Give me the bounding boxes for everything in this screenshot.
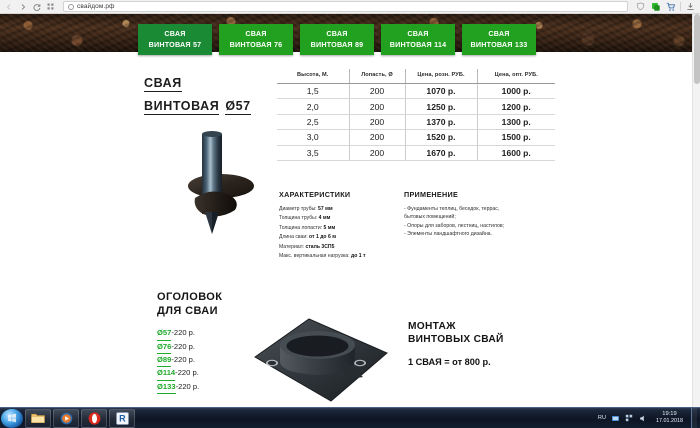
product-title: СВАЯ ВИНТОВАЯ Ø57	[144, 74, 274, 120]
cell-wholesale: 1200 р.	[477, 99, 555, 114]
nav-item-svaya-76[interactable]: СВАЯ ВИНТОВАЯ 76	[219, 24, 293, 55]
installation-block: МОНТАЖ ВИНТОВЫХ СВАЙ 1 СВАЯ = от 800 р.	[408, 320, 568, 367]
cell-retail: 1670 р.	[405, 145, 477, 160]
cell-wholesale: 1000 р.	[477, 84, 555, 99]
cart-icon[interactable]	[665, 1, 676, 12]
spec-row: Толщина трубы: 4 мм	[279, 214, 404, 223]
usage-line: - Элементы ландшафтного дизайна.	[404, 230, 554, 238]
page-content: СВАЯ ВИНТОВАЯ Ø57	[0, 52, 700, 407]
spec-row: Толщина лопасти: 5 мм	[279, 224, 404, 233]
spec-row: Диаметр трубы: 57 мм	[279, 205, 404, 214]
language-indicator[interactable]: RU	[598, 415, 606, 421]
usage-block: ПРИМЕНЕНИЕ - Фундаменты теплиц, беседок,…	[404, 190, 554, 239]
pile-cap-diameter: Ø114	[157, 367, 175, 380]
spec-row: Макс. вертикальная нагрузка: до 1 т	[279, 252, 404, 261]
extension-icon[interactable]	[650, 1, 661, 12]
cell-retail: 1250 р.	[405, 99, 477, 114]
taskbar: R RU 19:19 17.01.2018	[0, 407, 700, 428]
cell-wholesale: 1600 р.	[477, 145, 555, 160]
spec-value: сталь 3СП5	[305, 244, 334, 250]
pile-cap-price: -220 р.	[171, 354, 195, 367]
spec-value: 4 мм	[319, 215, 331, 221]
cell-height: 2,0	[277, 99, 349, 114]
spec-label: Материал:	[279, 244, 304, 250]
cell-wholesale: 1500 р.	[477, 130, 555, 145]
page-scrollbar[interactable]	[692, 14, 700, 407]
spec-value: до 1 т	[351, 253, 366, 259]
nav-item-line2: ВИНТОВАЯ 114	[390, 40, 447, 50]
spec-value: 57 мм	[318, 206, 333, 212]
pile-cap-price: -220 р.	[171, 341, 195, 354]
cell-retail: 1520 р.	[405, 130, 477, 145]
opera-icon[interactable]	[81, 409, 107, 428]
start-orb[interactable]	[1, 409, 23, 428]
pile-cap-photo	[247, 305, 397, 410]
back-arrow-icon[interactable]	[4, 2, 14, 12]
screw-pile-photo	[165, 124, 270, 244]
table-header-blade: Лопасть, Ø	[349, 69, 405, 84]
usage-line: - Опоры для заборов, лестниц, настилов;	[404, 222, 554, 230]
spec-label: Толщина лопасти:	[279, 225, 322, 231]
cell-wholesale: 1300 р.	[477, 114, 555, 129]
scrollbar-thumb[interactable]	[694, 14, 700, 84]
product-diameter-label: Ø57	[225, 99, 250, 115]
pile-cap-diameter: Ø89	[157, 354, 171, 367]
spec-value: 5 мм	[324, 225, 336, 231]
installation-price: 1 СВАЯ = от 800 р.	[408, 357, 568, 367]
spec-value: от 1 до 6 м	[309, 234, 336, 240]
r-app-icon[interactable]: R	[109, 409, 135, 428]
nav-item-line1: СВАЯ	[407, 29, 428, 39]
shield-icon[interactable]	[635, 1, 646, 12]
clock-time: 19:19	[656, 411, 683, 418]
nav-item-svaya-114[interactable]: СВАЯ ВИНТОВАЯ 114	[381, 24, 455, 55]
spec-label: Макс. вертикальная нагрузка:	[279, 253, 350, 259]
media-player-icon[interactable]	[53, 409, 79, 428]
cell-blade: 200	[349, 99, 405, 114]
installation-heading: МОНТАЖ ВИНТОВЫХ СВАЙ	[408, 320, 568, 347]
show-desktop-button[interactable]	[691, 408, 697, 428]
pile-cap-heading-line2: ДЛЯ СВАИ	[157, 305, 218, 317]
cell-height: 1,5	[277, 84, 349, 99]
characteristics-heading: ХАРАКТЕРИСТИКИ	[279, 190, 404, 199]
url-text: свайдом.рф	[77, 3, 115, 10]
spec-label: Толщина трубы:	[279, 215, 317, 221]
nav-item-svaya-89[interactable]: СВАЯ ВИНТОВАЯ 89	[300, 24, 374, 55]
usage-line: бытовых помещений;	[404, 213, 554, 221]
apps-grid-icon[interactable]	[46, 2, 56, 12]
installation-heading-line1: МОНТАЖ	[408, 321, 456, 332]
table-header-wholesale: Цена, опт. РУБ.	[477, 69, 555, 84]
toolbar-divider	[680, 2, 681, 11]
nav-item-line1: СВАЯ	[245, 29, 266, 39]
explorer-icon[interactable]	[25, 409, 51, 428]
table-row: 1,5 200 1070 р. 1000 р.	[277, 84, 555, 99]
browser-toolbar: свайдом.рф	[0, 0, 700, 14]
cell-blade: 200	[349, 84, 405, 99]
product-title-line1: СВАЯ	[144, 76, 182, 92]
pile-cap-price: -220 р.	[175, 367, 199, 380]
usage-line: - Фундаменты теплиц, беседок, террас,	[404, 205, 554, 213]
volume-icon[interactable]	[639, 414, 648, 423]
pile-cap-diameter: Ø133	[157, 381, 176, 394]
pile-cap-diameter: Ø57	[157, 327, 171, 340]
cell-height: 3,5	[277, 145, 349, 160]
table-row: 3,5 200 1670 р. 1600 р.	[277, 145, 555, 160]
table-row: 3,0 200 1520 р. 1500 р.	[277, 130, 555, 145]
pile-cap-heading-line1: ОГОЛОВОК	[157, 291, 222, 303]
pile-cap-price: -220 р.	[171, 327, 195, 340]
action-center-icon[interactable]	[625, 414, 634, 423]
table-row: 2,0 200 1250 р. 1200 р.	[277, 99, 555, 114]
network-icon[interactable]	[611, 414, 620, 423]
cell-blade: 200	[349, 114, 405, 129]
nav-item-line1: СВАЯ	[488, 29, 509, 39]
nav-item-line2: ВИНТОВАЯ 89	[311, 40, 364, 50]
product-nav: СВАЯ ВИНТОВАЯ 57 СВАЯ ВИНТОВАЯ 76 СВАЯ В…	[138, 24, 558, 56]
clock[interactable]: 19:19 17.01.2018	[653, 411, 686, 424]
table-header-row: Высота, М. Лопасть, Ø Цена, розн. РУБ. Ц…	[277, 69, 555, 84]
nav-item-line2: ВИНТОВАЯ 57	[149, 40, 202, 50]
usage-heading: ПРИМЕНЕНИЕ	[404, 190, 554, 199]
spec-label: Длина сваи:	[279, 234, 308, 240]
svg-text:R: R	[119, 413, 126, 423]
site-info-icon[interactable]	[68, 4, 74, 10]
nav-item-svaya-133[interactable]: СВАЯ ВИНТОВАЯ 133	[462, 24, 536, 55]
table-row: 2,5 200 1370 р. 1300 р.	[277, 114, 555, 129]
cell-height: 3,0	[277, 130, 349, 145]
spec-label: Диаметр трубы:	[279, 206, 317, 212]
nav-item-line1: СВАЯ	[326, 29, 347, 39]
nav-item-line2: ВИНТОВАЯ 76	[230, 40, 283, 50]
cell-retail: 1070 р.	[405, 84, 477, 99]
table-header-retail: Цена, розн. РУБ.	[405, 69, 477, 84]
address-bar[interactable]: свайдом.рф	[63, 1, 628, 12]
nav-item-line1: СВАЯ	[164, 29, 185, 39]
download-icon[interactable]	[685, 1, 696, 12]
forward-arrow-icon[interactable]	[18, 2, 28, 12]
cell-height: 2,5	[277, 114, 349, 129]
nav-item-svaya-57[interactable]: СВАЯ ВИНТОВАЯ 57	[138, 24, 212, 55]
spec-row: Материал: сталь 3СП5	[279, 243, 404, 252]
system-tray: RU 19:19 17.01.2018	[598, 408, 700, 428]
reload-icon[interactable]	[32, 2, 42, 12]
pile-cap-diameter: Ø76	[157, 341, 171, 354]
cell-blade: 200	[349, 145, 405, 160]
screen: свайдом.рф СВАЯ ВИНТОВАЯ 57 СВАЯ ВИНТОВА…	[0, 0, 700, 428]
product-title-line2: ВИНТОВАЯ	[144, 99, 219, 115]
nav-item-line2: ВИНТОВАЯ 133	[471, 40, 528, 50]
spec-row: Длина сваи: от 1 до 6 м	[279, 233, 404, 242]
cell-blade: 200	[349, 130, 405, 145]
pile-cap-price: -220 р.	[176, 381, 200, 394]
installation-heading-line2: ВИНТОВЫХ СВАЙ	[408, 334, 504, 345]
characteristics-block: ХАРАКТЕРИСТИКИ Диаметр трубы: 57 мм Толщ…	[279, 190, 404, 262]
clock-date: 17.01.2018	[656, 418, 683, 424]
table-header-height: Высота, М.	[277, 69, 349, 84]
cell-retail: 1370 р.	[405, 114, 477, 129]
price-table: Высота, М. Лопасть, Ø Цена, розн. РУБ. Ц…	[277, 69, 555, 161]
